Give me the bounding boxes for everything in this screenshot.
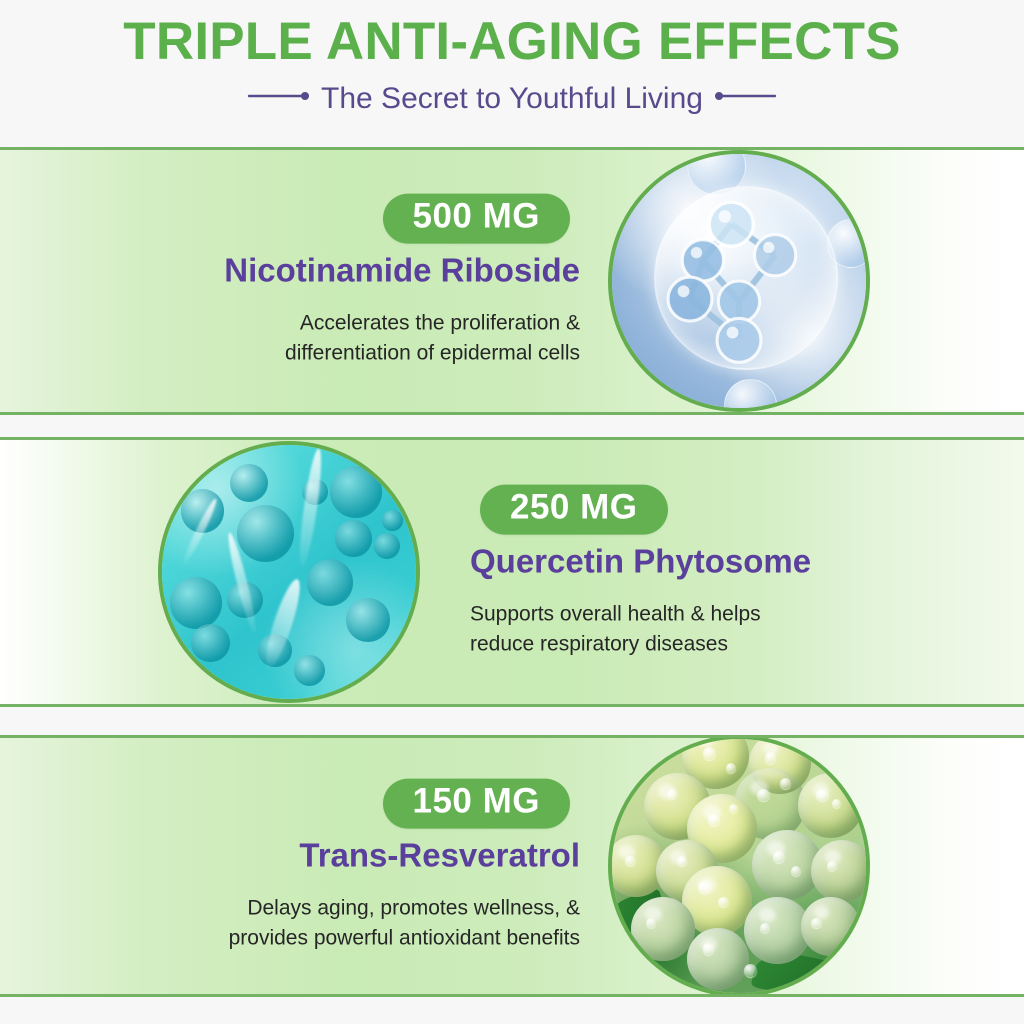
page-title: TRIPLE ANTI-AGING EFFECTS [0, 14, 1024, 70]
ingredient-benefit-1: Accelerates the proliferation & differen… [110, 309, 580, 369]
turquoise-liquid-bubbles-image [158, 441, 420, 703]
ingredient-name-2: Quercetin Phytosome [470, 543, 940, 579]
ingredient-panel-2: 250 MG Quercetin Phytosome Supports over… [0, 437, 1024, 707]
ingredient-text-block-2: 250 MG Quercetin Phytosome Supports over… [470, 485, 940, 660]
subtitle-row: The Secret to Youthful Living [0, 82, 1024, 116]
dose-badge-3: 150 MG [383, 779, 571, 829]
ingredient-benefit-2: Supports overall health & helps reduce r… [470, 600, 940, 660]
line-with-dot-icon [247, 88, 311, 109]
ingredient-panel-1: 500 MG Nicotinamide Riboside Accelerates… [0, 147, 1024, 415]
ingredient-panel-3: 150 MG Trans-Resveratrol Delays aging, p… [0, 735, 1024, 997]
dot-with-line-icon [713, 88, 777, 109]
header: TRIPLE ANTI-AGING EFFECTS The Secret to … [0, 0, 1024, 116]
dose-badge-1: 500 MG [383, 194, 571, 244]
molecule-structure-icon [610, 152, 868, 410]
ingredient-name-1: Nicotinamide Riboside [110, 252, 580, 288]
green-grapes-image [608, 735, 870, 997]
dose-badge-2: 250 MG [480, 485, 668, 535]
molecule-bubble-image [608, 150, 870, 412]
ingredient-text-block-3: 150 MG Trans-Resveratrol Delays aging, p… [110, 779, 580, 954]
ingredient-benefit-3: Delays aging, promotes wellness, & provi… [110, 894, 580, 954]
page-subtitle: The Secret to Youthful Living [321, 82, 703, 116]
ingredient-name-3: Trans-Resveratrol [110, 837, 580, 873]
ingredient-text-block-1: 500 MG Nicotinamide Riboside Accelerates… [110, 194, 580, 369]
